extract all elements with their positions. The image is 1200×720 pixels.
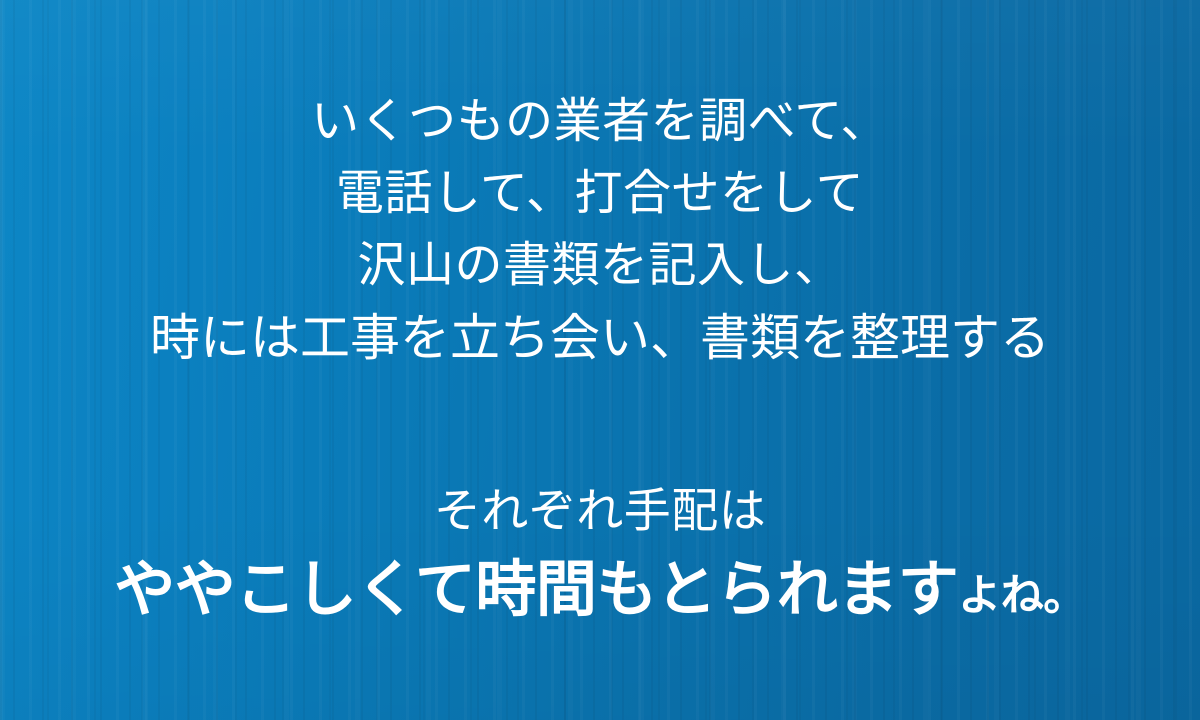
lower-punch-line: ややこしくて時間もとられますよね。 — [0, 550, 1200, 645]
banner-content: いくつもの業者を調べて、 電話して、打合せをして 沢山の書類を記入し、 時には工… — [0, 0, 1200, 720]
upper-text-block: いくつもの業者を調べて、 電話して、打合せをして 沢山の書類を記入し、 時には工… — [0, 86, 1200, 374]
upper-line-2: 電話して、打合せをして — [0, 158, 1200, 230]
promo-banner: いくつもの業者を調べて、 電話して、打合せをして 沢山の書類を記入し、 時には工… — [0, 0, 1200, 720]
upper-line-4: 時には工事を立ち会い、書類を整理する — [0, 302, 1200, 374]
lower-text-block: それぞれ手配は ややこしくて時間もとられますよね。 — [0, 480, 1200, 645]
upper-line-3: 沢山の書類を記入し、 — [0, 230, 1200, 302]
punch-tail-text: よね。 — [958, 572, 1086, 620]
upper-line-1: いくつもの業者を調べて、 — [0, 86, 1200, 158]
lower-lead-line: それぞれ手配は — [0, 480, 1200, 542]
punch-main-text: ややこしくて時間もとられます — [114, 555, 958, 623]
